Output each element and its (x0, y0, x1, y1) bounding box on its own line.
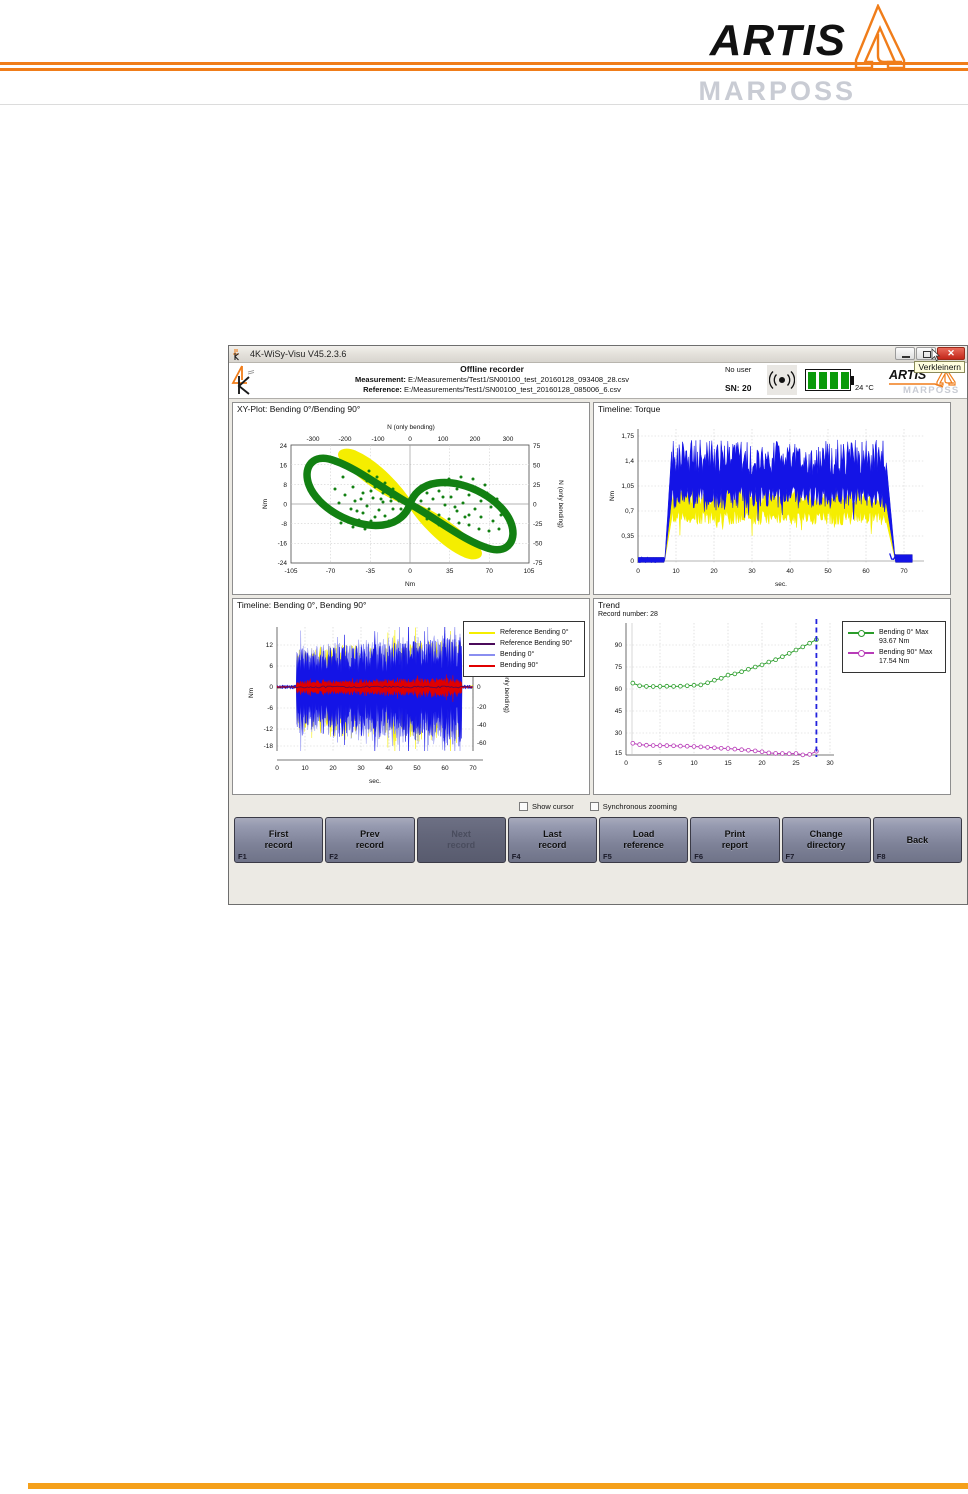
data-point (672, 685, 676, 689)
data-point (781, 655, 785, 659)
checkbox-box[interactable] (590, 802, 599, 811)
svg-text:MARPOSS: MARPOSS (903, 385, 959, 394)
svg-text:-100: -100 (371, 436, 384, 443)
close-button[interactable]: ✕ (937, 347, 965, 360)
measurement-path: E:/Measurements/Test1/SN00100_test_20160… (408, 375, 629, 384)
function-key-label: Changedirectory (807, 829, 846, 851)
function-key-shortcut: F5 (603, 852, 612, 861)
data-point (651, 685, 655, 689)
svg-text:Nm: Nm (609, 491, 616, 501)
reference-path: E:/Measurements/Test1/SN00100_test_20160… (404, 385, 621, 394)
app-logo-4k-icon (229, 363, 265, 398)
svg-text:-20: -20 (477, 704, 487, 711)
svg-text:25: 25 (533, 482, 541, 489)
data-point (699, 745, 703, 749)
svg-text:0: 0 (275, 765, 279, 772)
data-point (665, 684, 669, 688)
data-point (638, 684, 642, 688)
window-title: 4K-WiSy-Visu V45.2.3.6 (250, 349, 346, 359)
panel-xy-plot-title: XY-Plot: Bending 0°/Bending 90° (237, 404, 360, 414)
svg-text:10: 10 (672, 568, 680, 575)
trend-legend: Bending 0° Max93.67 Nm Bending 90° Max17… (842, 621, 946, 673)
panel-xy-plot[interactable]: XY-Plot: Bending 0°/Bending 90° N (only … (232, 402, 590, 595)
data-point (685, 744, 689, 748)
legend-series-value: 17.54 Nm (879, 658, 909, 665)
svg-text:0: 0 (408, 436, 412, 443)
svg-text:0: 0 (630, 558, 634, 565)
legend-item: Bending 0° (469, 650, 579, 659)
data-point (638, 743, 642, 747)
data-point (781, 752, 785, 756)
data-point (658, 685, 662, 689)
svg-text:60: 60 (862, 568, 870, 575)
synchronous-zooming-label: Synchronous zooming (603, 802, 677, 811)
data-point (801, 753, 805, 757)
panel-trend[interactable]: Trend Record number: 28 90 (593, 598, 951, 795)
data-point (706, 746, 710, 750)
data-point (651, 744, 655, 748)
svg-text:0,35: 0,35 (621, 533, 634, 540)
svg-text:-16: -16 (278, 541, 288, 548)
svg-text:16: 16 (280, 463, 288, 470)
function-key-button[interactable]: LastrecordF4 (508, 817, 597, 863)
svg-text:45: 45 (615, 708, 623, 715)
svg-text:20: 20 (758, 760, 766, 767)
options-bar: Show cursor Synchronous zooming (229, 798, 967, 814)
data-point (760, 663, 764, 667)
data-point (658, 744, 662, 748)
svg-text:-8: -8 (281, 521, 287, 528)
data-point (631, 741, 635, 745)
legend-item: Bending 0° Max93.67 Nm (848, 628, 940, 646)
function-key-shortcut: F4 (512, 852, 521, 861)
svg-text:N (only bending): N (only bending) (557, 480, 564, 528)
svg-text:-300: -300 (306, 436, 319, 443)
app-header: Offline recorder Measurement: E:/Measure… (229, 363, 967, 399)
window-titlebar[interactable]: 4K-WiSy-Visu V45.2.3.6 ✕ Verkleinern (229, 346, 967, 363)
screen-title: Offline recorder (265, 364, 719, 374)
svg-text:-24: -24 (278, 560, 288, 567)
legend-series-value: 93.67 Nm (879, 638, 909, 645)
bending-traces (277, 619, 473, 763)
data-point (665, 744, 669, 748)
svg-text:300: 300 (503, 436, 514, 443)
svg-text:1,4: 1,4 (625, 458, 634, 465)
svg-text:0,7: 0,7 (625, 508, 634, 515)
data-point (767, 751, 771, 755)
function-key-bar: FirstrecordF1PrevrecordF2NextrecordLastr… (229, 814, 967, 866)
wireless-signal-icon[interactable] (767, 365, 797, 395)
data-point (692, 683, 696, 687)
data-point (787, 652, 791, 656)
svg-text:-200: -200 (338, 436, 351, 443)
svg-text:Nm: Nm (248, 688, 255, 698)
legend-label: Reference Bending 0° (500, 628, 569, 637)
app-icon (232, 348, 245, 361)
svg-text:0: 0 (624, 760, 628, 767)
legend-color-swatch (469, 665, 495, 667)
svg-text:100: 100 (438, 436, 449, 443)
svg-text:50: 50 (413, 765, 421, 772)
svg-text:6: 6 (269, 663, 273, 670)
battery-full-icon (805, 369, 851, 391)
svg-text:-50: -50 (533, 541, 543, 548)
data-point (774, 752, 778, 756)
svg-text:10: 10 (690, 760, 698, 767)
panel-timeline-bending-title: Timeline: Bending 0°, Bending 90° (237, 600, 366, 610)
svg-text:1,75: 1,75 (621, 433, 634, 440)
svg-text:20: 20 (329, 765, 337, 772)
svg-text:105: 105 (524, 568, 535, 575)
legend-label: Reference Bending 90° (500, 639, 572, 648)
data-point (685, 684, 689, 688)
legend-color-swatch (469, 654, 495, 656)
function-key-button[interactable]: PrintreportF6 (690, 817, 779, 863)
data-point (747, 667, 751, 671)
temperature-readout: 24 °C (855, 383, 874, 392)
svg-text:70: 70 (900, 568, 908, 575)
function-key-shortcut: F1 (238, 852, 247, 861)
data-point (733, 672, 737, 676)
function-key-label: Back (907, 835, 929, 846)
svg-text:5: 5 (658, 760, 662, 767)
svg-text:-25: -25 (533, 521, 543, 528)
xy-plot-canvas[interactable]: N (only bending) -300-200-100 (233, 403, 589, 594)
legend-label: Bending 90° Max17.54 Nm (879, 648, 932, 666)
svg-text:0: 0 (636, 568, 640, 575)
data-point (760, 750, 764, 754)
legend-item: Bending 90° Max17.54 Nm (848, 648, 940, 666)
application-window: 4K-WiSy-Visu V45.2.3.6 ✕ Verkleinern (228, 345, 968, 905)
function-key-button: Nextrecord (417, 817, 506, 863)
reference-label: Reference: (363, 385, 402, 394)
legend-color-swatch (848, 632, 874, 634)
svg-text:15: 15 (724, 760, 732, 767)
svg-text:Nm: Nm (262, 499, 269, 509)
svg-text:12: 12 (266, 642, 274, 649)
svg-text:70: 70 (469, 765, 477, 772)
legend-color-swatch (469, 643, 495, 645)
svg-text:30: 30 (615, 730, 623, 737)
data-point (692, 745, 696, 749)
svg-text:-75: -75 (533, 560, 543, 567)
svg-text:10: 10 (301, 765, 309, 772)
function-key-label: Nextrecord (447, 829, 475, 851)
reference-path-row: Reference: E:/Measurements/Test1/SN00100… (265, 385, 719, 395)
artis-wordmark: ARTIS (710, 16, 846, 66)
app-header-center: Offline recorder Measurement: E:/Measure… (265, 363, 719, 398)
data-point (808, 753, 812, 757)
show-cursor-label: Show cursor (532, 802, 574, 811)
header-rule-top (0, 62, 968, 65)
artis-logo-icon (848, 4, 910, 76)
data-point (740, 748, 744, 752)
svg-text:50: 50 (533, 463, 541, 470)
legend-item: Reference Bending 90° (469, 639, 579, 648)
svg-text:0: 0 (283, 502, 287, 509)
data-point (794, 752, 798, 756)
tooltip-verkleinern: Verkleinern (914, 361, 965, 373)
svg-text:30: 30 (826, 760, 834, 767)
data-point (699, 683, 703, 687)
function-key-button[interactable]: FirstrecordF1 (234, 817, 323, 863)
synchronous-zooming-checkbox[interactable]: Synchronous zooming (590, 802, 677, 811)
function-key-label: Firstrecord (265, 829, 293, 851)
function-key-shortcut: F2 (329, 852, 338, 861)
function-key-shortcut: F6 (694, 852, 703, 861)
trend-traces (631, 619, 818, 757)
serial-number: SN: 20 (725, 383, 751, 393)
data-point (740, 670, 744, 674)
legend-label: Bending 0° Max93.67 Nm (879, 628, 929, 646)
data-point (794, 648, 798, 652)
svg-text:0: 0 (533, 502, 537, 509)
header-rule-grey (0, 104, 968, 105)
data-point (645, 743, 649, 747)
data-point (706, 681, 710, 685)
svg-text:20: 20 (710, 568, 718, 575)
svg-text:50: 50 (824, 568, 832, 575)
function-key-button[interactable]: BackF8 (873, 817, 962, 863)
data-point (787, 752, 791, 756)
timeline-torque-canvas[interactable]: 1,751,41,05 0,70,350 01020 304050 6070 s… (594, 403, 950, 594)
svg-text:24: 24 (280, 443, 288, 450)
function-key-shortcut: F8 (877, 852, 886, 861)
function-key-button[interactable]: ChangedirectoryF7 (782, 817, 871, 863)
svg-text:-105: -105 (284, 568, 297, 575)
svg-text:75: 75 (533, 443, 541, 450)
panel-timeline-torque[interactable]: Timeline: Torque 1,7 (593, 402, 951, 595)
svg-text:25: 25 (792, 760, 800, 767)
data-point (645, 685, 649, 689)
svg-text:-6: -6 (267, 705, 273, 712)
svg-text:-35: -35 (366, 568, 376, 575)
svg-text:90: 90 (615, 642, 623, 649)
data-point (801, 645, 805, 649)
page-letterhead: ARTIS MARPOSS (0, 0, 968, 112)
marposs-wordmark: MARPOSS (698, 76, 856, 107)
legend-color-swatch (469, 632, 495, 634)
svg-text:15: 15 (615, 750, 623, 757)
legend-label: Bending 0° (500, 650, 534, 659)
svg-text:40: 40 (786, 568, 794, 575)
data-point (679, 684, 683, 688)
checkbox-box[interactable] (519, 802, 528, 811)
show-cursor-checkbox[interactable]: Show cursor (519, 802, 574, 811)
data-point (713, 678, 717, 682)
data-point (774, 658, 778, 662)
svg-text:60: 60 (441, 765, 449, 772)
function-key-shortcut: F7 (786, 852, 795, 861)
data-point (713, 746, 717, 750)
svg-text:60: 60 (615, 686, 623, 693)
header-rule-bottom (0, 68, 968, 71)
svg-text:70: 70 (486, 568, 494, 575)
data-point (672, 744, 676, 748)
data-point (726, 673, 730, 677)
svg-text:8: 8 (283, 482, 287, 489)
user-status: No user (725, 365, 751, 374)
data-point (631, 681, 635, 685)
function-key-button[interactable]: LoadreferenceF5 (599, 817, 688, 863)
data-point (767, 660, 771, 664)
svg-text:30: 30 (748, 568, 756, 575)
minimize-button[interactable] (895, 347, 915, 360)
legend-item: Bending 90° (469, 661, 579, 670)
panel-timeline-torque-title: Timeline: Torque (598, 404, 660, 414)
data-point (808, 641, 812, 645)
panel-timeline-bending[interactable]: Timeline: Bending 0°, Bending 90° (232, 598, 590, 795)
svg-text:40: 40 (385, 765, 393, 772)
svg-text:0: 0 (477, 684, 481, 691)
data-point (747, 748, 751, 752)
data-point (726, 747, 730, 751)
legend-series-name: Bending 0° Max (879, 629, 929, 636)
mouse-cursor-icon (931, 348, 941, 362)
svg-text:-12: -12 (264, 726, 274, 733)
function-key-label: Loadreference (623, 829, 664, 851)
svg-text:75: 75 (615, 664, 623, 671)
svg-text:Nm: Nm (405, 581, 415, 588)
function-key-label: Printreport (722, 829, 748, 851)
svg-text:1,05: 1,05 (621, 483, 634, 490)
svg-text:-60: -60 (477, 740, 487, 747)
svg-text:0: 0 (408, 568, 412, 575)
data-point (719, 676, 723, 680)
legend-item: Reference Bending 0° (469, 628, 579, 637)
data-point (753, 665, 757, 669)
svg-text:N (only bending): N (only bending) (387, 424, 435, 431)
footer-rule (28, 1483, 968, 1489)
legend-series-name: Bending 90° Max (879, 649, 932, 656)
plot-area: XY-Plot: Bending 0°/Bending 90° N (only … (229, 399, 967, 798)
svg-text:sec.: sec. (369, 778, 381, 785)
bending-legend: Reference Bending 0° Reference Bending 9… (463, 621, 585, 677)
panel-trend-title: Trend (598, 600, 620, 610)
data-point (753, 749, 757, 753)
legend-label: Bending 90° (500, 661, 538, 670)
legend-color-swatch (848, 652, 874, 654)
svg-text:200: 200 (470, 436, 481, 443)
measurement-path-row: Measurement: E:/Measurements/Test1/SN001… (265, 375, 719, 385)
window-controls: ✕ (894, 347, 965, 360)
svg-text:-70: -70 (326, 568, 336, 575)
svg-text:-40: -40 (477, 722, 487, 729)
trend-record-number: Record number: 28 (598, 611, 658, 618)
function-key-label: Lastrecord (538, 829, 566, 851)
svg-text:35: 35 (446, 568, 454, 575)
data-point (679, 744, 683, 748)
svg-text:30: 30 (357, 765, 365, 772)
measurement-label: Measurement: (355, 375, 406, 384)
function-key-button[interactable]: PrevrecordF2 (325, 817, 414, 863)
svg-text:-18: -18 (264, 743, 274, 750)
svg-text:sec.: sec. (775, 581, 787, 588)
data-point (733, 747, 737, 751)
svg-text:0: 0 (269, 684, 273, 691)
data-point (719, 746, 723, 750)
function-key-label: Prevrecord (356, 829, 384, 851)
